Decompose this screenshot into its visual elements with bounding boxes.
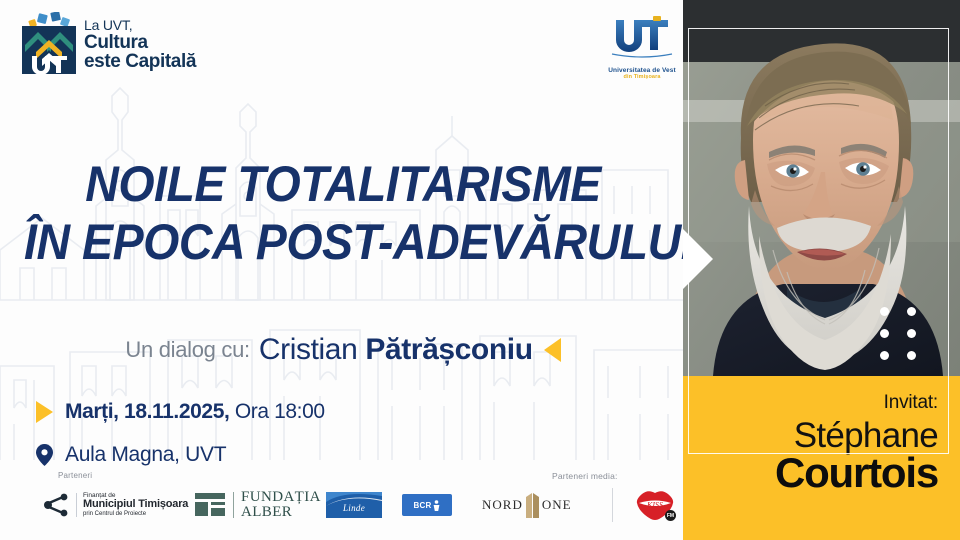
media-partner-kiss-fm: KISS FM [622,487,688,523]
event-time-value: Ora 18:00 [229,400,324,423]
logo-line-3: este Capitală [84,52,196,72]
uvt-logo-line-1: Universitatea de Vest [592,67,692,74]
logo-wordmark: La UVT, Cultura este Capitală [84,18,196,74]
guest-portrait-illustration [683,0,960,376]
guest-name-block: Invitat: Stéphane Courtois [683,376,960,540]
dot-6 [907,351,916,360]
dialog-prefix: Un dialog cu: [125,337,250,363]
title-line-2: ÎN EPOCA POST-ADEVĂRULUI [24,213,662,271]
title-line-1: NOILE TOTALITARISME [24,155,662,213]
partner-nord-one: NORD ONE [482,487,602,523]
bcr-erste-icon [433,500,440,511]
timisoara-line-2: Municipiul Timișoara [83,499,188,511]
left-content-pane: La UVT, Cultura este Capitală Universit [0,0,686,540]
partner-fundatia-alber: FUNDAȚIA ALBER [194,487,326,523]
dot-3 [880,329,889,338]
poster-title: NOILE TOTALITARISME ÎN EPOCA POST-ADEVĂR… [0,155,686,271]
guest-photo [683,0,960,376]
event-location-row: Aula Magna, UVT [36,443,226,467]
alber-line-1: FUNDAȚIA [241,490,321,505]
alber-mark-icon [194,491,226,519]
guest-last-name: Courtois [775,452,938,494]
partner-municipiul-timisoara: Finanțat de Municipiul Timișoara prin Ce… [44,487,194,523]
nordone-mark-icon [525,492,540,518]
event-date-row: Marți, 18.11.2025, Ora 18:00 [36,400,325,424]
dot-2 [907,307,916,316]
dot-5 [880,351,889,360]
partners-divider [602,487,622,523]
dot-4 [907,329,916,338]
uvt-university-logo: Universitatea de Vest din Timișoara [592,16,692,80]
dialog-first-name: Cristian [259,333,365,366]
logo-chevrons-icon [22,26,76,74]
partner-bcr: BCR [402,487,482,523]
event-location-text: Aula Magna, UVT [65,443,226,467]
partner-linde: Linde [326,487,402,523]
nordone-line-2: ONE [542,497,572,513]
guest-panel: Invitat: Stéphane Courtois [683,0,960,540]
la-uvt-cultura-logo: La UVT, Cultura este Capitală [22,12,196,74]
alber-line-2: ALBER [241,505,321,520]
decorative-dot-grid [880,307,916,360]
partner-logos-strip: Finanțat de Municipiul Timișoara prin Ce… [44,487,774,523]
event-poster: La UVT, Cultura este Capitală Universit [0,0,960,540]
linde-wordmark: Linde [343,503,365,513]
bcr-wordmark: BCR [414,501,432,510]
event-date-text: Marți, 18.11.2025, Ora 18:00 [65,400,325,424]
location-pin-icon [36,444,53,466]
kiss-fm-badge: FM [665,510,676,521]
guest-first-name: Stéphane [794,418,938,453]
nordone-line-1: NORD [482,497,523,513]
guest-label: Invitat: [884,392,938,414]
white-arrow-notch-icon [683,228,713,290]
dot-1 [880,307,889,316]
yellow-triangle-left-icon [544,338,561,362]
timisoara-network-icon [44,493,70,517]
svg-text:KISS: KISS [646,501,663,510]
partners-label: Parteneri [58,471,92,480]
logo-line-2: Cultura [84,33,196,53]
play-triangle-icon [36,401,53,423]
dialog-last-name: Pătrășconiu [365,333,532,366]
media-partners-label: Parteneri media: [552,471,618,481]
timisoara-line-3: prin Centrul de Proiecte [83,511,188,517]
cultura-capitala-mark-icon [22,12,76,74]
uvt-monogram-icon [610,16,674,60]
dialog-guest-name: Cristian Pătrășconiu [259,333,533,367]
uvt-logo-line-2: din Timișoara [592,74,692,80]
event-date-value: Marți, 18.11.2025, [65,400,229,423]
logo-line-1: La UVT, [84,18,196,33]
dialog-with-line: Un dialog cu: Cristian Pătrășconiu [0,333,686,367]
